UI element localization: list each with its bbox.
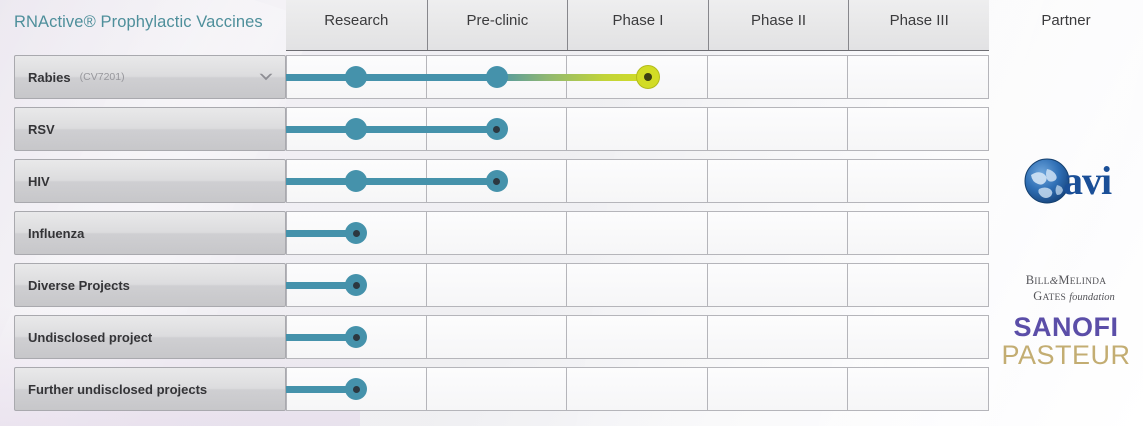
partner-logo-iavi: avi (989, 146, 1143, 216)
cell-research[interactable] (286, 55, 427, 99)
cell-phase-iii[interactable] (848, 107, 989, 151)
phase-cells (286, 55, 989, 99)
iavi-wordmark: avi (1063, 161, 1111, 201)
gates-l1-ill: ILL (1034, 277, 1049, 287)
cell-phase-ii[interactable] (708, 367, 849, 411)
row-label-text: Rabies (28, 70, 71, 85)
cell-phase-iii[interactable] (848, 367, 989, 411)
gates-line-1: BILL&MELINDA (1026, 273, 1107, 289)
cell-preclinic[interactable] (427, 107, 568, 151)
cell-phase-i[interactable] (567, 159, 708, 203)
phase-header-preclinic: Pre-clinic (427, 0, 568, 50)
gates-l1-elinda: ELINDA (1070, 277, 1107, 287)
cell-phase-ii[interactable] (708, 315, 849, 359)
cell-preclinic[interactable] (427, 55, 568, 99)
gates-foundation-word: foundation (1069, 292, 1115, 303)
cell-preclinic[interactable] (427, 263, 568, 307)
table-row[interactable]: Further undisclosed projects (0, 363, 1143, 415)
pasteur-wordmark: PASTEUR (1001, 341, 1130, 369)
phase-header-phase-iii: Phase III (848, 0, 989, 50)
phase-cells (286, 107, 989, 151)
cell-phase-iii[interactable] (848, 315, 989, 359)
gates-line-2: GATES foundation (1017, 289, 1115, 305)
row-label-diverse-projects[interactable]: Diverse Projects (14, 263, 286, 307)
phase-header-row: Research Pre-clinic Phase I Phase II Pha… (286, 0, 989, 51)
phase-cells (286, 315, 989, 359)
row-label-text: HIV (28, 174, 50, 189)
cell-phase-iii[interactable] (848, 159, 989, 203)
cell-research[interactable] (286, 315, 427, 359)
pipeline-rows: Rabies (CV7201) (0, 51, 1143, 415)
row-label-text: Influenza (28, 226, 84, 241)
partner-header: Partner (989, 0, 1143, 51)
cell-research[interactable] (286, 263, 427, 307)
row-label-hiv[interactable]: HIV (14, 159, 286, 203)
row-label-text: Further undisclosed projects (28, 382, 207, 397)
cell-preclinic[interactable] (427, 211, 568, 255)
cell-preclinic[interactable] (427, 315, 568, 359)
cell-phase-ii[interactable] (708, 263, 849, 307)
phase-cells (286, 263, 989, 307)
cell-phase-i[interactable] (567, 263, 708, 307)
cell-phase-i[interactable] (567, 315, 708, 359)
phase-header-phase-ii: Phase II (708, 0, 849, 50)
partner-column: avi BILL&MELINDA GATES foundation SANOFI… (989, 51, 1143, 426)
row-label-further-undisclosed-projects[interactable]: Further undisclosed projects (14, 367, 286, 411)
row-label-rsv[interactable]: RSV (14, 107, 286, 151)
cell-research[interactable] (286, 107, 427, 151)
page-title: RNActive® Prophylactic Vaccines (14, 13, 263, 32)
table-row[interactable]: Diverse Projects (0, 259, 1143, 311)
sanofi-wordmark: SANOFI (1013, 313, 1118, 341)
partner-logo-gates-foundation: BILL&MELINDA GATES foundation (989, 266, 1143, 312)
cell-research[interactable] (286, 367, 427, 411)
cell-phase-ii[interactable] (708, 55, 849, 99)
cell-phase-i[interactable] (567, 107, 708, 151)
phase-cells (286, 159, 989, 203)
row-label-text: Diverse Projects (28, 278, 130, 293)
cell-phase-iii[interactable] (848, 211, 989, 255)
phase-cells (286, 367, 989, 411)
cell-phase-i[interactable] (567, 211, 708, 255)
row-label-code: (CV7201) (80, 71, 125, 83)
cell-phase-iii[interactable] (848, 263, 989, 307)
table-row[interactable]: Rabies (CV7201) (0, 51, 1143, 103)
row-label-text: Undisclosed project (28, 330, 152, 345)
cell-phase-ii[interactable] (708, 211, 849, 255)
table-row[interactable]: HIV (0, 155, 1143, 207)
row-label-influenza[interactable]: Influenza (14, 211, 286, 255)
partner-logo-sanofi-pasteur: SANOFI PASTEUR (989, 313, 1143, 369)
cell-phase-i[interactable] (567, 55, 708, 99)
gates-ampersand: & (1050, 275, 1059, 287)
table-row[interactable]: RSV (0, 103, 1143, 155)
cell-phase-ii[interactable] (708, 159, 849, 203)
row-label-undisclosed-project[interactable]: Undisclosed project (14, 315, 286, 359)
cell-preclinic[interactable] (427, 367, 568, 411)
phase-cells (286, 211, 989, 255)
cell-phase-i[interactable] (567, 367, 708, 411)
cell-phase-iii[interactable] (848, 55, 989, 99)
cell-preclinic[interactable] (427, 159, 568, 203)
phase-header-phase-i: Phase I (567, 0, 708, 50)
pipeline-chart: RNActive® Prophylactic Vaccines Research… (0, 0, 1143, 426)
row-label-rabies[interactable]: Rabies (CV7201) (14, 55, 286, 99)
chevron-down-icon[interactable] (255, 66, 277, 88)
gates-l2-ates: ATES (1042, 293, 1066, 303)
cell-research[interactable] (286, 159, 427, 203)
phase-header-research: Research (286, 0, 427, 50)
row-label-text: RSV (28, 122, 55, 137)
table-row[interactable]: Undisclosed project (0, 311, 1143, 363)
cell-research[interactable] (286, 211, 427, 255)
cell-phase-ii[interactable] (708, 107, 849, 151)
table-row[interactable]: Influenza (0, 207, 1143, 259)
